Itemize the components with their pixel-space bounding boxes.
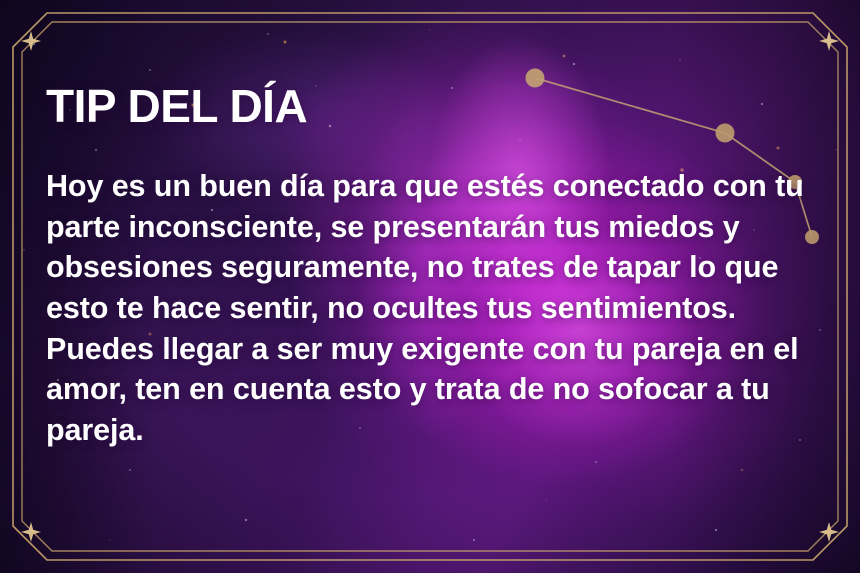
card-content: TIP DEL DÍA Hoy es un buen día para que …: [46, 82, 814, 450]
tip-of-the-day-card: TIP DEL DÍA Hoy es un buen día para que …: [0, 0, 860, 573]
tip-body-text: Hoy es un buen día para que estés conect…: [46, 166, 814, 450]
page-title: TIP DEL DÍA: [46, 82, 814, 130]
